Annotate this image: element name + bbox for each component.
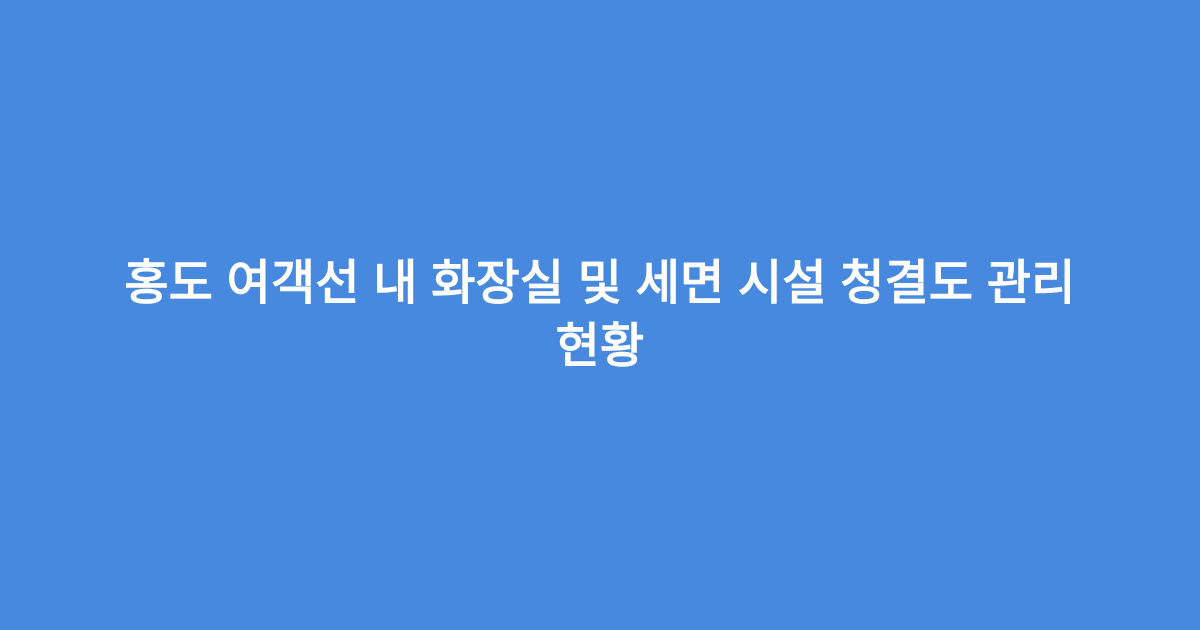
- og-card: 홍도 여객선 내 화장실 및 세면 시설 청결도 관리 현황: [0, 0, 1200, 630]
- page-title: 홍도 여객선 내 화장실 및 세면 시설 청결도 관리 현황: [80, 252, 1120, 378]
